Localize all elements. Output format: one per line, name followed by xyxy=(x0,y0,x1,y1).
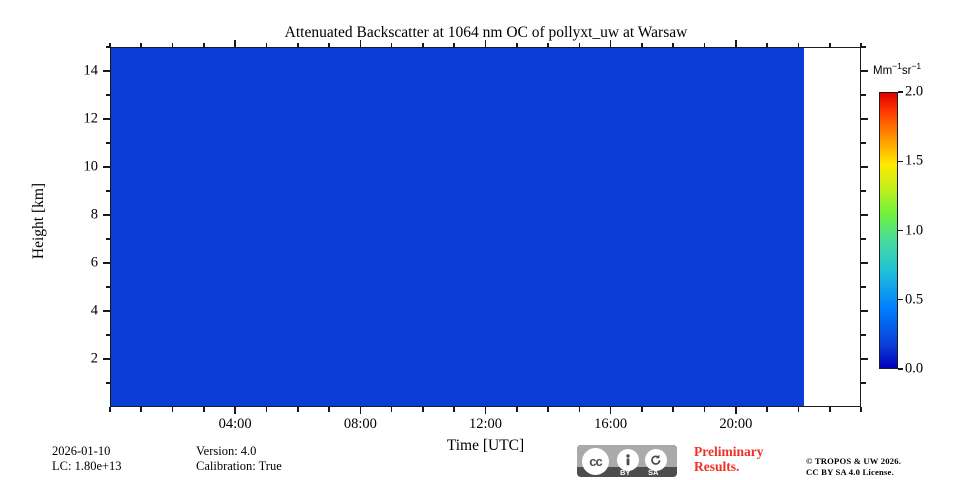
x-tick-minor-7 xyxy=(328,407,330,412)
colorbar-tick-label-1: 0.5 xyxy=(905,291,923,308)
y-tick-major-14 xyxy=(103,70,110,72)
y-axis-label: Height [km] xyxy=(30,106,48,336)
y-tick-right-8 xyxy=(861,214,868,216)
x-tick-top-15 xyxy=(579,43,581,48)
x-tick-top-13 xyxy=(516,43,518,48)
footer-version: Version: 4.0 xyxy=(196,444,256,459)
y-tick-minor-15 xyxy=(106,46,111,48)
x-tick-minor-9 xyxy=(391,407,393,412)
colorbar-unit-label: Mm−1sr−1 xyxy=(873,61,921,77)
colorbar: 0.00.51.01.52.0 xyxy=(879,92,898,369)
y-tick-right-2 xyxy=(861,358,868,360)
y-tick-right-15 xyxy=(861,46,866,48)
x-tick-top-4 xyxy=(234,40,236,47)
x-tick-label-3: 16:00 xyxy=(594,416,627,433)
y-tick-minor-1 xyxy=(106,382,111,384)
y-tick-right-13 xyxy=(861,94,866,96)
colorbar-tick-2 xyxy=(898,230,903,231)
colorbar-tick-label-3: 1.5 xyxy=(905,153,923,170)
x-tick-label-0: 04:00 xyxy=(219,416,252,433)
copyright-line-2: CC BY SA 4.0 License. xyxy=(806,467,901,478)
y-tick-right-9 xyxy=(861,190,866,192)
colorbar-gradient xyxy=(879,92,898,369)
x-tick-top-7 xyxy=(328,43,330,48)
colorbar-tick-label-2: 1.0 xyxy=(905,222,923,239)
y-tick-major-12 xyxy=(103,118,110,120)
x-tick-top-14 xyxy=(547,43,549,48)
creative-commons-badge[interactable]: cc BY SA xyxy=(577,445,677,477)
x-tick-minor-21 xyxy=(766,407,768,412)
x-tick-minor-3 xyxy=(203,407,205,412)
y-tick-major-6 xyxy=(103,262,110,264)
x-tick-label-2: 12:00 xyxy=(469,416,502,433)
colorbar-tick-4 xyxy=(898,91,903,92)
y-tick-label-3: 8 xyxy=(60,207,98,224)
footer-lidar-constant: LC: 1.80e+13 xyxy=(52,459,122,474)
y-tick-label-6: 14 xyxy=(60,63,98,80)
colorbar-tick-1 xyxy=(898,299,903,300)
copyright-notice: © TROPOS & UW 2026. CC BY SA 4.0 License… xyxy=(806,456,901,478)
x-tick-top-18 xyxy=(672,43,674,48)
x-tick-top-9 xyxy=(391,43,393,48)
y-tick-label-4: 10 xyxy=(60,159,98,176)
y-tick-right-1 xyxy=(861,382,866,384)
x-tick-major-8 xyxy=(360,407,362,414)
y-tick-label-1: 4 xyxy=(60,303,98,320)
colorbar-tick-label-4: 2.0 xyxy=(905,84,923,101)
x-tick-minor-24 xyxy=(860,407,862,412)
footer-calibration: Calibration: True xyxy=(196,459,282,474)
y-tick-right-14 xyxy=(861,70,868,72)
footer-date: 2026-01-10 xyxy=(52,444,110,459)
x-tick-top-1 xyxy=(140,43,142,48)
lidar-quicklook-figure: Attenuated Backscatter at 1064 nm OC of … xyxy=(0,0,960,480)
heatmap-cell-block xyxy=(111,48,804,406)
y-tick-minor-9 xyxy=(106,190,111,192)
colorbar-tick-3 xyxy=(898,161,903,162)
x-tick-minor-1 xyxy=(140,407,142,412)
x-tick-top-5 xyxy=(266,43,268,48)
cc-by-label: BY xyxy=(620,468,630,477)
x-tick-top-19 xyxy=(704,43,706,48)
x-tick-minor-6 xyxy=(297,407,299,412)
x-tick-top-8 xyxy=(360,40,362,47)
x-tick-top-20 xyxy=(735,40,737,47)
x-tick-major-16 xyxy=(610,407,612,414)
x-tick-top-23 xyxy=(829,43,831,48)
heatmap-data-layer xyxy=(111,48,860,406)
x-tick-minor-13 xyxy=(516,407,518,412)
copyright-line-1: © TROPOS & UW 2026. xyxy=(806,456,901,467)
y-tick-minor-13 xyxy=(106,94,111,96)
preliminary-line-2: Results. xyxy=(694,460,763,475)
x-tick-minor-2 xyxy=(172,407,174,412)
x-tick-major-12 xyxy=(485,407,487,414)
x-tick-top-10 xyxy=(422,43,424,48)
y-tick-right-6 xyxy=(861,262,868,264)
colorbar-unit-exponent-1: −1 xyxy=(892,61,902,71)
y-tick-right-3 xyxy=(861,334,866,336)
colorbar-unit-prefix: Mm xyxy=(873,65,892,77)
y-tick-minor-11 xyxy=(106,142,111,144)
y-tick-right-4 xyxy=(861,310,868,312)
y-tick-right-5 xyxy=(861,286,866,288)
y-tick-right-11 xyxy=(861,142,866,144)
x-tick-minor-17 xyxy=(641,407,643,412)
x-tick-major-4 xyxy=(234,407,236,414)
x-tick-major-20 xyxy=(735,407,737,414)
x-tick-minor-5 xyxy=(266,407,268,412)
y-tick-right-10 xyxy=(861,166,868,168)
x-tick-minor-11 xyxy=(453,407,455,412)
x-tick-minor-10 xyxy=(422,407,424,412)
cc-icon: cc xyxy=(582,448,609,475)
y-tick-minor-5 xyxy=(106,286,111,288)
x-tick-top-2 xyxy=(172,43,174,48)
x-tick-top-6 xyxy=(297,43,299,48)
x-tick-minor-14 xyxy=(547,407,549,412)
cc-sa-label: SA xyxy=(648,468,658,477)
x-tick-minor-23 xyxy=(829,407,831,412)
x-tick-minor-15 xyxy=(579,407,581,412)
x-tick-minor-0 xyxy=(109,407,111,412)
x-tick-label-1: 08:00 xyxy=(344,416,377,433)
y-tick-minor-7 xyxy=(106,238,111,240)
y-tick-major-4 xyxy=(103,310,110,312)
y-tick-right-7 xyxy=(861,238,866,240)
colorbar-tick-0 xyxy=(898,368,903,369)
colorbar-unit-exponent-2: −1 xyxy=(911,61,921,71)
plot-area xyxy=(110,47,861,407)
x-tick-minor-18 xyxy=(672,407,674,412)
x-tick-minor-22 xyxy=(798,407,800,412)
x-tick-top-22 xyxy=(798,43,800,48)
x-tick-top-17 xyxy=(641,43,643,48)
y-tick-right-12 xyxy=(861,118,868,120)
preliminary-line-1: Preliminary xyxy=(694,445,763,460)
y-tick-label-5: 12 xyxy=(60,111,98,128)
preliminary-results-notice: Preliminary Results. xyxy=(694,445,763,474)
y-tick-major-8 xyxy=(103,214,110,216)
x-tick-minor-19 xyxy=(704,407,706,412)
x-tick-top-12 xyxy=(485,40,487,47)
x-tick-top-11 xyxy=(453,43,455,48)
y-tick-minor-3 xyxy=(106,334,111,336)
colorbar-tick-label-0: 0.0 xyxy=(905,361,923,378)
x-tick-top-3 xyxy=(203,43,205,48)
x-tick-top-21 xyxy=(766,43,768,48)
x-tick-label-4: 20:00 xyxy=(719,416,752,433)
y-tick-major-10 xyxy=(103,166,110,168)
y-tick-label-0: 2 xyxy=(60,351,98,368)
y-tick-major-2 xyxy=(103,358,110,360)
x-tick-top-16 xyxy=(610,40,612,47)
y-tick-label-2: 6 xyxy=(60,255,98,272)
